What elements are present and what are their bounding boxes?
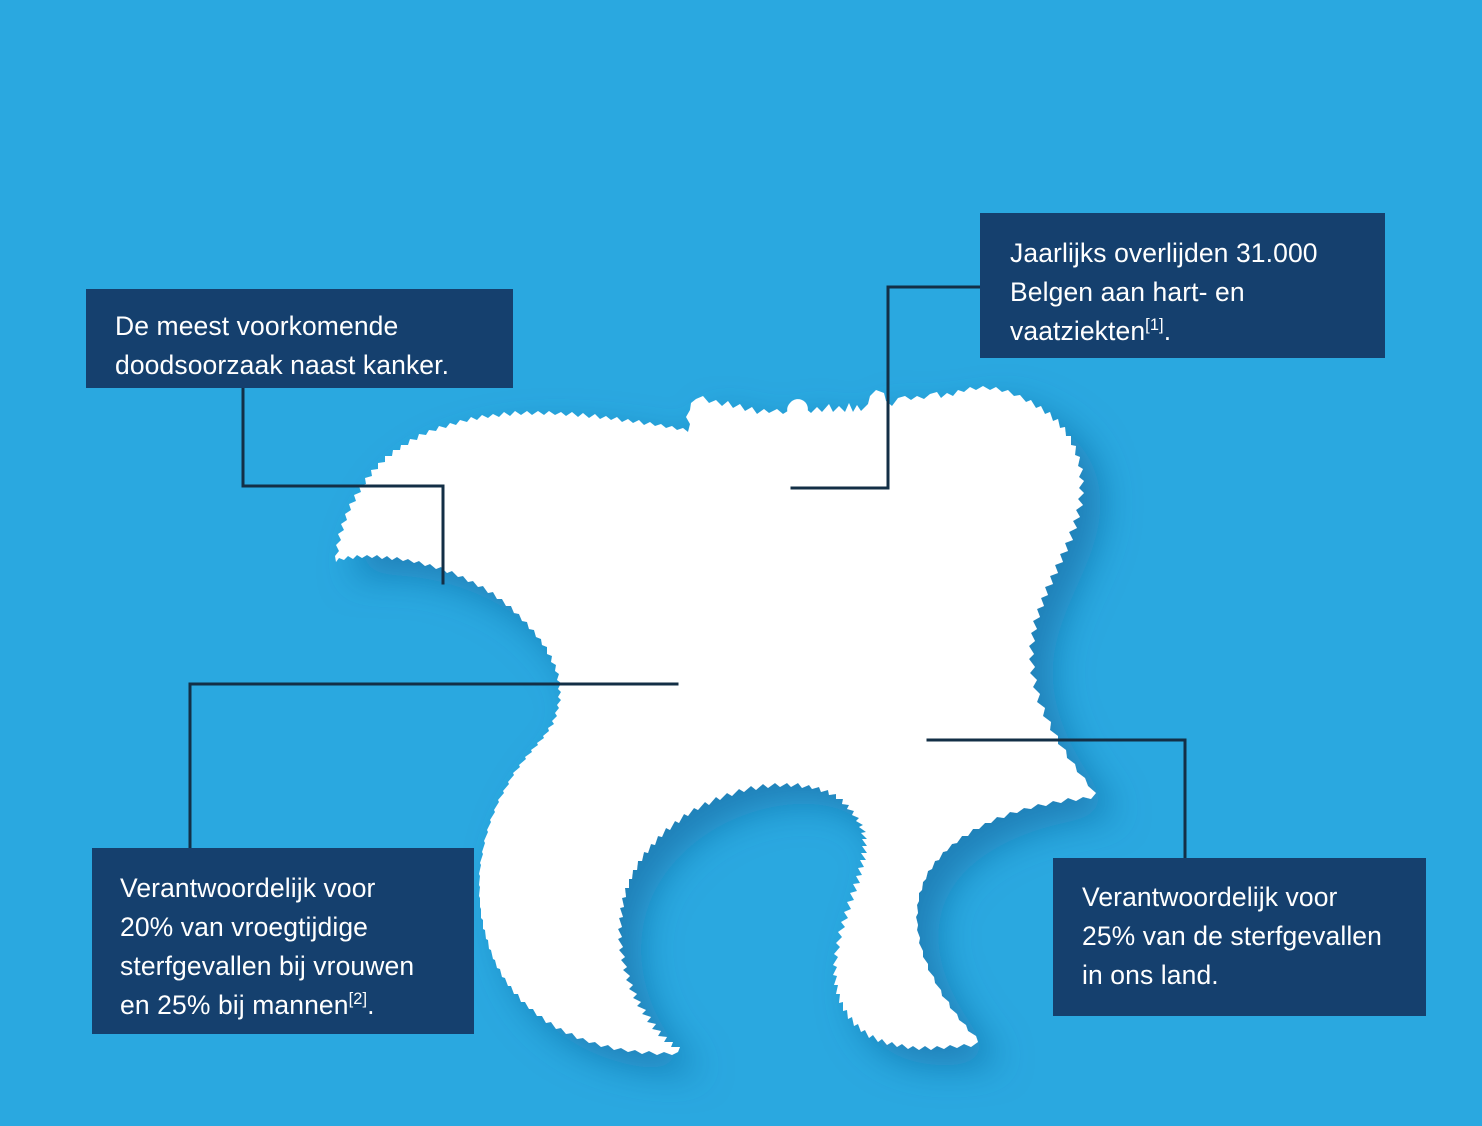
callout-line-text: vaatziekten bbox=[1010, 316, 1145, 346]
callout-line: sterfgevallen bij vrouwen bbox=[120, 947, 474, 986]
callout-trailing-punctuation: . bbox=[367, 990, 374, 1020]
callout-line: 20% van vroegtijdige bbox=[120, 908, 474, 947]
callout-line: Belgen aan hart- en bbox=[1010, 273, 1385, 312]
callout-line-with-citation: en 25% bij mannen[2]. bbox=[120, 986, 474, 1025]
callout-annual-deaths: Jaarlijks overlijden 31.000 Belgen aan h… bbox=[980, 213, 1385, 358]
callout-trailing-punctuation: . bbox=[1164, 316, 1171, 346]
callout-line: Verantwoordelijk voor bbox=[120, 869, 474, 908]
callout-line: Jaarlijks overlijden 31.000 bbox=[1010, 234, 1385, 273]
callout-line: in ons land. bbox=[1082, 956, 1426, 995]
callout-line: De meest voorkomende bbox=[115, 307, 513, 346]
callout-premature-deaths: Verantwoordelijk voor 20% van vroegtijdi… bbox=[92, 848, 474, 1034]
callout-line: 25% van de sterfgevallen bbox=[1082, 917, 1426, 956]
callout-leading-cause: De meest voorkomende doodsoorzaak naast … bbox=[86, 289, 513, 388]
citation-marker: [2] bbox=[349, 990, 368, 1008]
callout-line: Verantwoordelijk voor bbox=[1082, 878, 1426, 917]
callout-share-deaths: Verantwoordelijk voor 25% van de sterfge… bbox=[1053, 858, 1426, 1016]
callout-line-with-citation: vaatziekten[1]. bbox=[1010, 312, 1385, 351]
citation-marker: [1] bbox=[1145, 316, 1164, 334]
callout-line: doodsoorzaak naast kanker. bbox=[115, 346, 513, 385]
callout-line-text: en 25% bij mannen bbox=[120, 990, 349, 1020]
infographic-canvas: HART- EN VAATZIEKTEN IN BELGIË bbox=[0, 0, 1482, 1126]
